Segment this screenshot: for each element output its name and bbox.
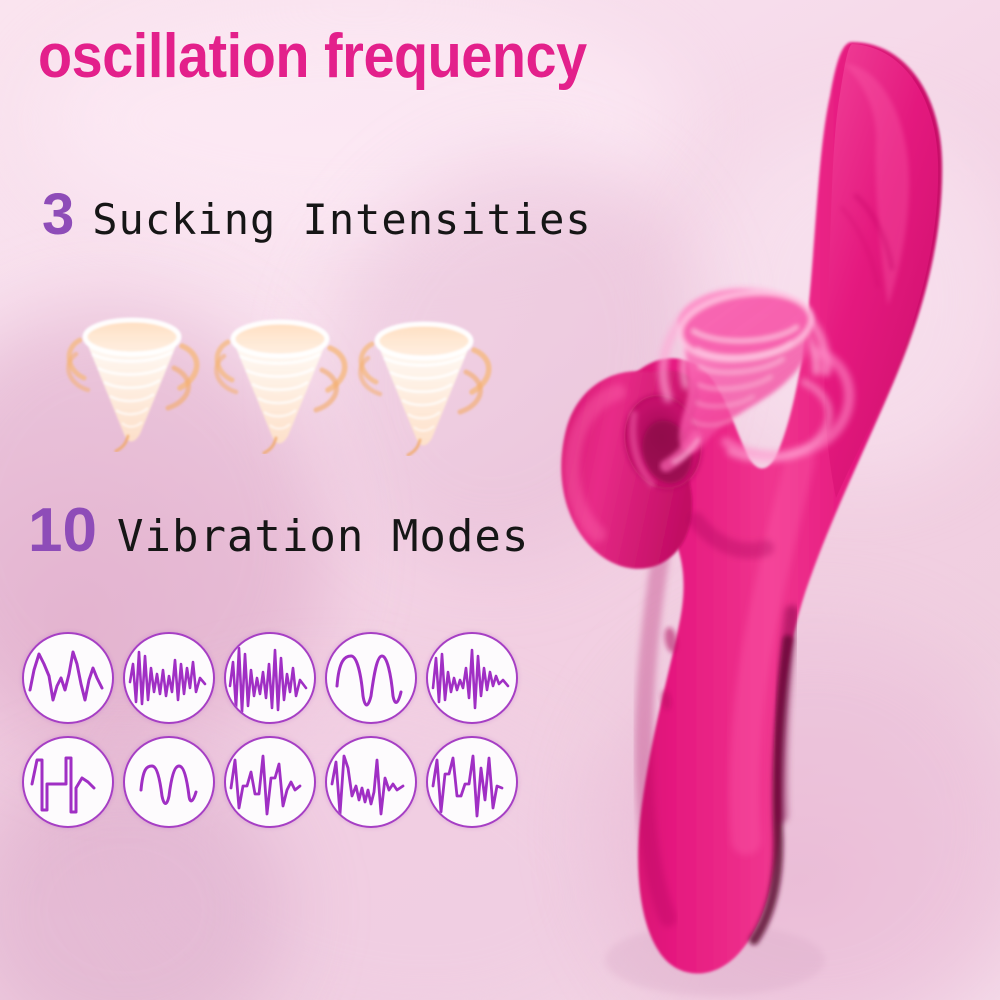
waveform-sharp-spikes-icon[interactable]	[224, 632, 316, 724]
waveform-pulse-step-icon[interactable]	[224, 736, 316, 828]
product-image	[500, 0, 1000, 1000]
tornado-icon-2	[210, 294, 360, 454]
waveform-square-step-icon[interactable]	[22, 736, 114, 828]
tornado-icon-3	[354, 296, 504, 456]
infographic-canvas: oscillation frequency 3 Sucking Intensit…	[0, 0, 1000, 1000]
waveform-dense-burst-icon[interactable]	[123, 632, 215, 724]
tornado-icon-1	[62, 292, 212, 452]
sucking-intensities-count: 3	[42, 186, 74, 244]
vibration-modes-label: Vibration Modes	[117, 515, 529, 559]
waveform-smooth-sine-icon[interactable]	[325, 632, 417, 724]
vibration-modes-icon-grid	[18, 632, 530, 838]
waveform-tremor-icon[interactable]	[325, 736, 417, 828]
vibration-modes-row	[18, 632, 530, 728]
sucking-intensities-icon-group	[62, 292, 512, 452]
vibration-modes-heading: 10 Vibration Modes	[28, 500, 529, 562]
waveform-mixed-peaks-icon[interactable]	[22, 632, 114, 724]
vibration-modes-row	[18, 736, 530, 832]
waveform-small-sine-icon[interactable]	[123, 736, 215, 828]
vibration-modes-count: 10	[28, 500, 97, 562]
